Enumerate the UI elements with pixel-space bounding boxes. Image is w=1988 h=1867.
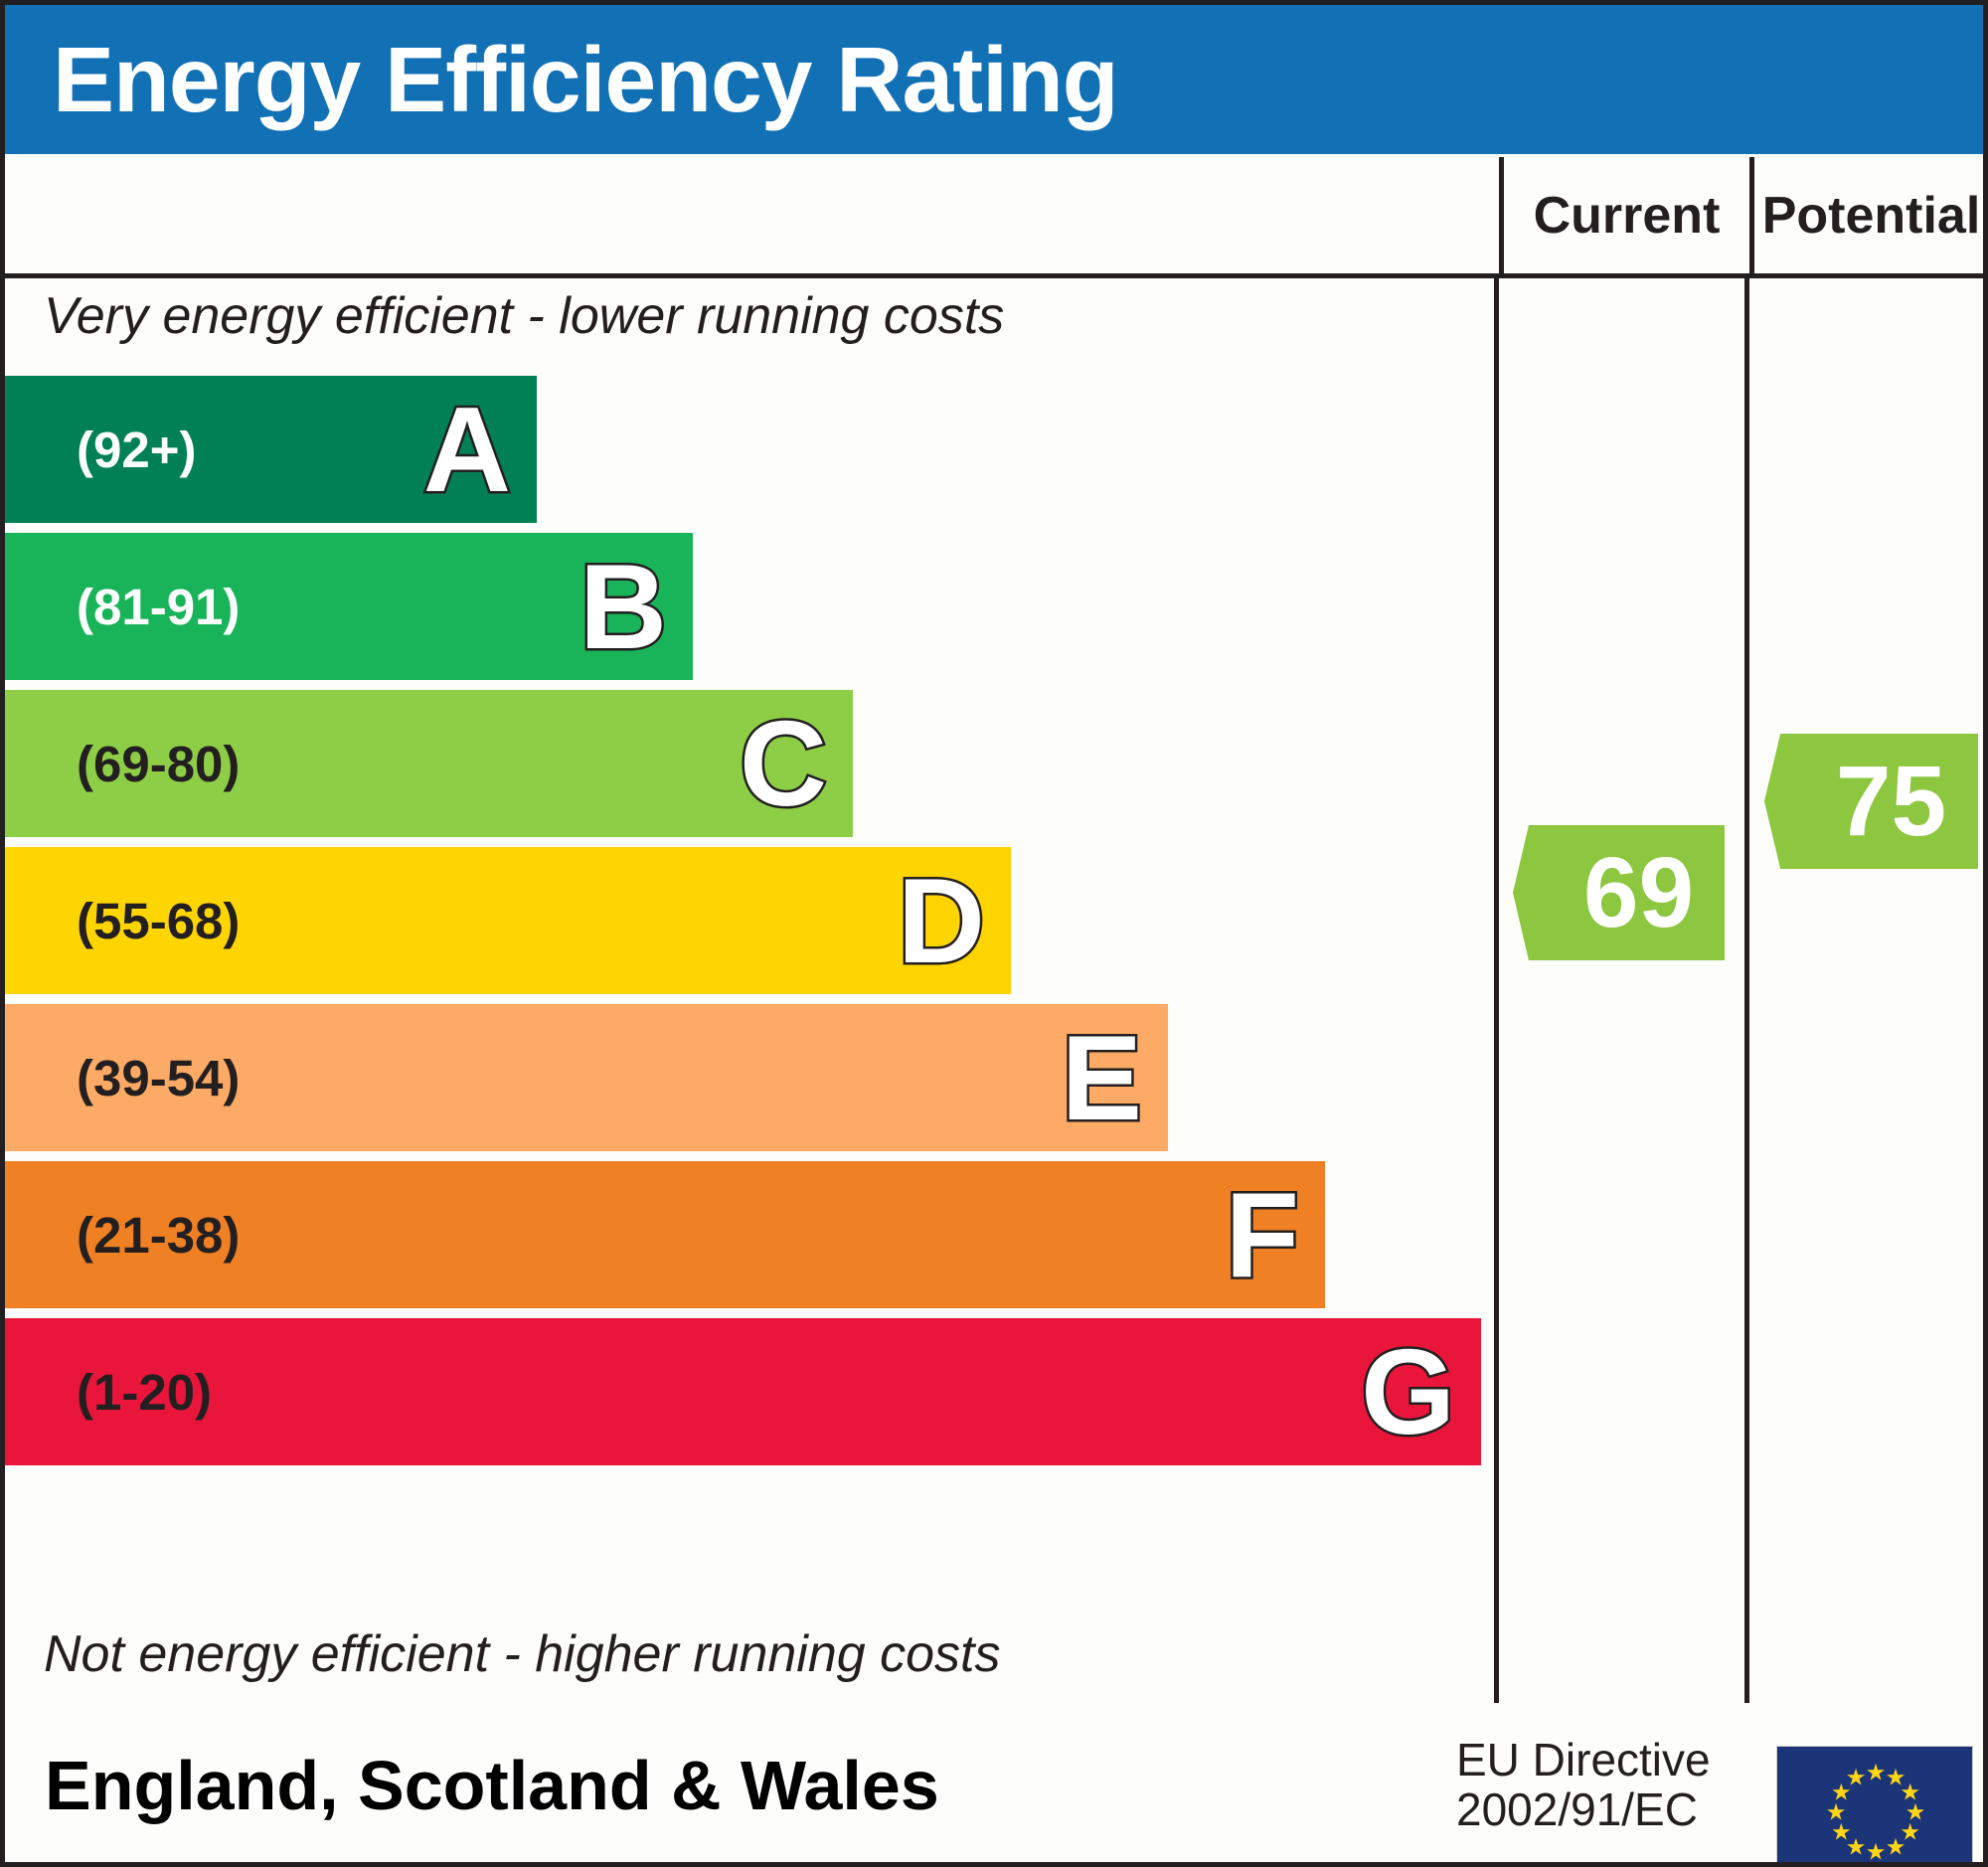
band-range-f: (21-38) bbox=[5, 1210, 240, 1261]
band-row-b: (81-91)B bbox=[5, 533, 693, 680]
band-row-e: (39-54)E bbox=[5, 1004, 1168, 1151]
current-rating-badge: 69 bbox=[1513, 825, 1725, 960]
band-row-f: (21-38)F bbox=[5, 1161, 1325, 1308]
caption-not-efficient: Not energy efficient - higher running co… bbox=[44, 1628, 1001, 1680]
band-row-d: (55-68)D bbox=[5, 847, 1011, 994]
band-letter-a: A bbox=[423, 389, 537, 510]
column-divider-left bbox=[1494, 278, 1499, 1703]
eu-flag-icon: ★★★★★★★★★★★★ bbox=[1776, 1746, 1973, 1867]
band-range-g: (1-20) bbox=[5, 1367, 212, 1418]
band-letter-b: B bbox=[580, 546, 693, 667]
column-header-row: Current Potential bbox=[5, 157, 1983, 278]
band-letter-c: C bbox=[740, 703, 853, 824]
column-header-potential-label: Potential bbox=[1762, 186, 1981, 246]
caption-efficient: Very energy efficient - lower running co… bbox=[44, 290, 1004, 342]
potential-rating-badge: 75 bbox=[1764, 734, 1978, 869]
current-rating-value: 69 bbox=[1544, 843, 1694, 942]
eu-star-icon: ★ bbox=[1846, 1767, 1867, 1789]
energy-efficiency-rating-chart: Energy Efficiency Rating Current Potenti… bbox=[0, 0, 1988, 1867]
page-title: Energy Efficiency Rating bbox=[5, 34, 1118, 126]
footer-directive-line2: 2002/91/EC bbox=[1456, 1785, 1711, 1835]
column-header-current-label: Current bbox=[1534, 186, 1721, 246]
band-row-a: (92+)A bbox=[5, 376, 537, 523]
eu-star-icon: ★ bbox=[1886, 1835, 1906, 1858]
eu-star-icon: ★ bbox=[1866, 1762, 1887, 1784]
potential-rating-value: 75 bbox=[1796, 752, 1946, 851]
band-list: (92+)A(81-91)B(69-80)C(55-68)D(39-54)E(2… bbox=[5, 376, 1486, 1604]
band-range-e: (39-54) bbox=[5, 1053, 240, 1103]
band-range-d: (55-68) bbox=[5, 896, 240, 946]
band-range-c: (69-80) bbox=[5, 739, 240, 789]
band-range-a: (92+) bbox=[5, 424, 196, 475]
band-letter-g: G bbox=[1361, 1331, 1481, 1452]
band-row-g: (1-20)G bbox=[5, 1318, 1481, 1465]
footer-directive-line1: EU Directive bbox=[1456, 1736, 1711, 1785]
band-letter-e: E bbox=[1062, 1017, 1168, 1138]
column-header-current: Current bbox=[1499, 157, 1749, 273]
column-divider-right bbox=[1744, 278, 1749, 1703]
chart-footer: England, Scotland & Wales EU Directive 2… bbox=[5, 1708, 1983, 1862]
band-letter-f: F bbox=[1225, 1174, 1325, 1295]
band-letter-d: D bbox=[898, 860, 1011, 981]
band-row-c: (69-80)C bbox=[5, 690, 853, 837]
column-header-potential: Potential bbox=[1749, 157, 1988, 273]
band-range-b: (81-91) bbox=[5, 582, 240, 632]
eu-star-icon: ★ bbox=[1866, 1841, 1887, 1864]
chart-title-bar: Energy Efficiency Rating bbox=[5, 5, 1983, 154]
footer-directive: EU Directive 2002/91/EC bbox=[1456, 1736, 1711, 1834]
footer-region-label: England, Scotland & Wales bbox=[45, 1751, 939, 1820]
